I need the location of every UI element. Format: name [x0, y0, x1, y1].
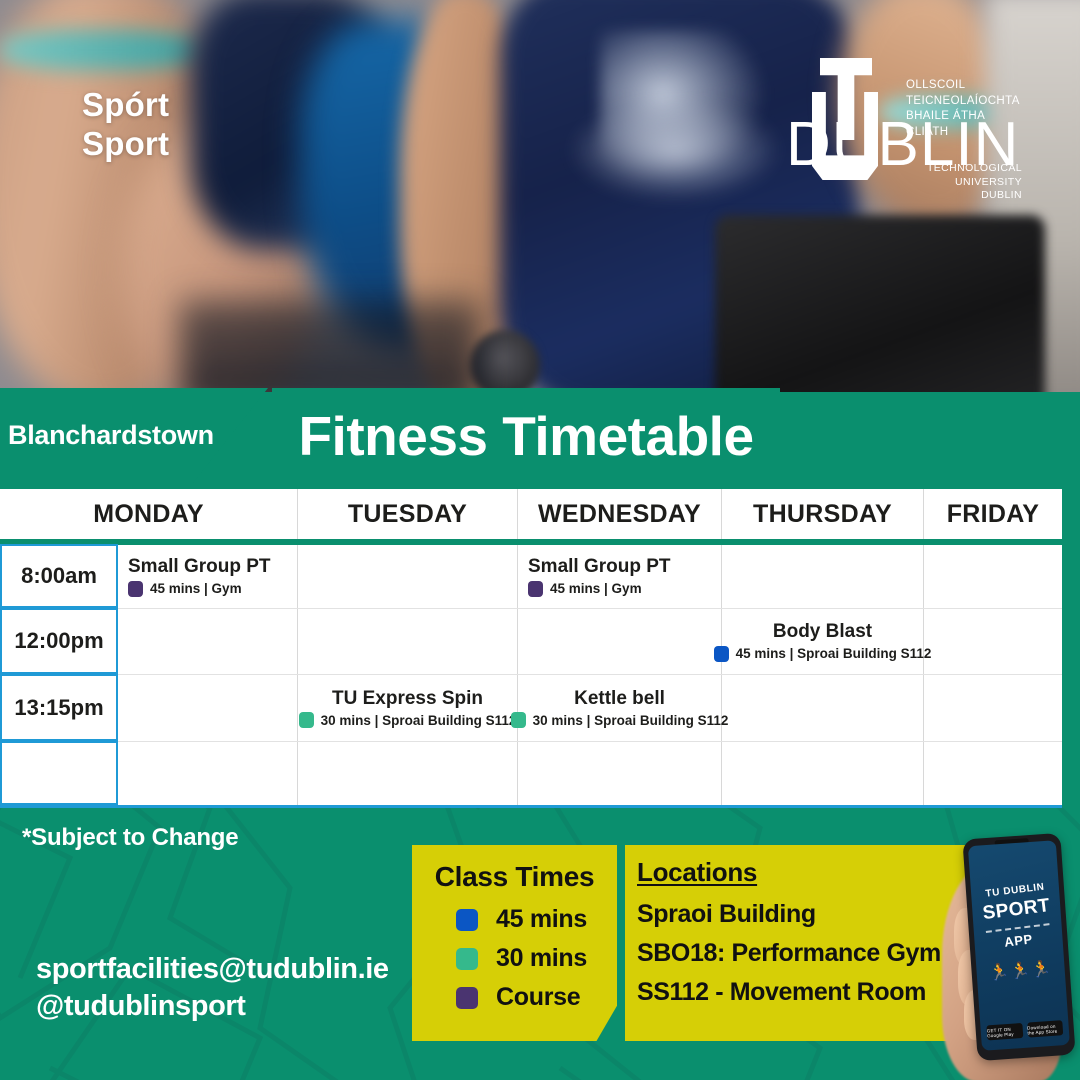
class-type-swatch — [299, 712, 314, 728]
class-slot-friday[interactable] — [924, 675, 1062, 741]
column-header-wednesday: WEDNESDAY — [518, 489, 722, 539]
class-name: TU Express Spin — [332, 688, 483, 710]
class-meta: 30 mins | Sproai Building S112 — [511, 712, 729, 728]
fitness-timetable-poster: Spórt Sport DUBLIN OLLSCOIL TEICNEOLAÍOC… — [0, 0, 1080, 1080]
logo-irish-name: OLLSCOIL TEICNEOLAÍOCHTA BHAILE ÁTHA CLI… — [906, 78, 1024, 140]
class-slot-monday[interactable] — [118, 609, 298, 674]
class-duration-location: 45 mins | Gym — [150, 581, 242, 596]
app-store-badge[interactable]: Download on the App Store — [1027, 1020, 1063, 1037]
contact-social-handle[interactable]: @tudublinsport — [36, 988, 389, 1025]
column-header-tuesday: TUESDAY — [298, 489, 518, 539]
class-name: Body Blast — [773, 621, 872, 643]
class-type-swatch — [528, 581, 543, 597]
page-title: Fitness Timetable — [298, 404, 753, 468]
app-promo-phone: TU DUBLIN SPORT APP 🏃🏃🏃 GET IT ON Google… — [948, 822, 1080, 1080]
class-slot-monday[interactable] — [118, 742, 298, 805]
store-badges: GET IT ON Google Play Download on the Ap… — [986, 1020, 1063, 1040]
class-times-panel: Class Times 45 mins 30 mins Course — [412, 845, 617, 1041]
timetable: MONDAY TUESDAY WEDNESDAY THURSDAY FRIDAY… — [0, 486, 1062, 810]
class-slot-tuesday[interactable] — [298, 742, 518, 805]
campus-banner: Blanchardstown — [0, 388, 268, 483]
legend-label: 30 mins — [496, 944, 587, 973]
legend-item: 30 mins — [456, 944, 617, 973]
class-times-title: Class Times — [412, 861, 617, 893]
class-meta: 30 mins | Sproai Building S112 — [299, 712, 517, 728]
class-slot-friday[interactable] — [924, 609, 1062, 674]
legend-swatch-course — [456, 987, 478, 1009]
class-name: Kettle bell — [574, 688, 665, 710]
hero-photo-banner: Spórt Sport DUBLIN OLLSCOIL TEICNEOLAÍOC… — [0, 0, 1080, 392]
disclaimer-text: *Subject to Change — [22, 824, 238, 852]
class-type-swatch — [714, 646, 729, 662]
class-slot-tuesday[interactable] — [298, 609, 518, 674]
sport-english-label: Sport — [82, 125, 169, 164]
class-slot-wednesday[interactable]: Kettle bell 30 mins | Sproai Building S1… — [518, 675, 722, 741]
class-slot-monday[interactable]: Small Group PT 45 mins | Gym — [118, 545, 298, 608]
logo-eng-line2: UNIVERSITY DUBLIN — [912, 176, 1022, 203]
logo-eng-line1: TECHNOLOGICAL — [912, 162, 1022, 176]
class-meta: 45 mins | Sproai Building S112 — [714, 646, 932, 662]
sport-irish-label: Spórt — [82, 86, 169, 125]
legend-label: 45 mins — [496, 905, 587, 934]
contact-email[interactable]: sportfacilities@tudublin.ie — [36, 951, 389, 988]
legend-item: Course — [456, 983, 617, 1012]
class-slot-thursday[interactable] — [722, 545, 924, 608]
legend-swatch-45min — [456, 909, 478, 931]
class-slot-thursday[interactable] — [722, 675, 924, 741]
tu-dublin-logo: DUBLIN OLLSCOIL TEICNEOLAÍOCHTA BHAILE Á… — [786, 58, 1022, 188]
class-slot-thursday[interactable]: Body Blast 45 mins | Sproai Building S11… — [722, 609, 924, 674]
class-times-legend: 45 mins 30 mins Course — [412, 905, 617, 1012]
table-row: 12:00pm Body Blast 45 mins | Sproai Buil… — [0, 609, 1062, 675]
class-name: Small Group PT — [528, 556, 671, 578]
class-slot-friday[interactable] — [924, 742, 1062, 805]
time-label: 12:00pm — [0, 608, 118, 674]
class-duration-location: 45 mins | Gym — [550, 581, 642, 596]
table-row — [0, 742, 1062, 805]
class-name: Small Group PT — [128, 556, 271, 578]
google-play-badge[interactable]: GET IT ON Google Play — [986, 1023, 1022, 1040]
class-slot-wednesday[interactable]: Small Group PT 45 mins | Gym — [518, 545, 722, 608]
table-row: 13:15pm TU Express Spin 30 mins | Sproai… — [0, 675, 1062, 742]
column-header-monday: MONDAY — [0, 489, 298, 539]
logo-irish-line2: BHAILE ÁTHA CLIATH — [906, 109, 1024, 140]
class-meta: 45 mins | Gym — [128, 581, 242, 597]
campus-label: Blanchardstown — [8, 420, 214, 451]
column-header-thursday: THURSDAY — [722, 489, 924, 539]
logo-english-name: TECHNOLOGICAL UNIVERSITY DUBLIN — [912, 162, 1022, 203]
phone-screen: TU DUBLIN SPORT APP 🏃🏃🏃 GET IT ON Google… — [968, 840, 1070, 1051]
legend-swatch-30min — [456, 948, 478, 970]
time-label — [0, 741, 118, 805]
class-duration-location: 45 mins | Sproai Building S112 — [736, 646, 932, 661]
table-row: 8:00am Small Group PT 45 mins | Gym Smal… — [0, 545, 1062, 609]
time-label: 8:00am — [0, 544, 118, 608]
class-slot-tuesday[interactable] — [298, 545, 518, 608]
class-duration-location: 30 mins | Sproai Building S112 — [533, 713, 729, 728]
class-slot-friday[interactable] — [924, 545, 1062, 608]
timetable-header-row: MONDAY TUESDAY WEDNESDAY THURSDAY FRIDAY — [0, 486, 1062, 545]
poster-title-banner: Fitness Timetable — [272, 388, 780, 483]
title-bar: Blanchardstown Fitness Timetable — [0, 388, 1080, 486]
class-slot-thursday[interactable] — [722, 742, 924, 805]
logo-irish-line1: OLLSCOIL TEICNEOLAÍOCHTA — [906, 78, 1024, 109]
time-label: 13:15pm — [0, 674, 118, 741]
class-type-swatch — [511, 712, 526, 728]
class-slot-wednesday[interactable] — [518, 742, 722, 805]
class-duration-location: 30 mins | Sproai Building S112 — [321, 713, 517, 728]
contact-info: sportfacilities@tudublin.ie @tudublinspo… — [36, 951, 389, 1025]
phone-device: TU DUBLIN SPORT APP 🏃🏃🏃 GET IT ON Google… — [962, 833, 1075, 1061]
column-header-friday: FRIDAY — [924, 489, 1062, 539]
timetable-body: 8:00am Small Group PT 45 mins | Gym Smal… — [0, 545, 1062, 810]
class-slot-tuesday[interactable]: TU Express Spin 30 mins | Sproai Buildin… — [298, 675, 518, 741]
legend-label: Course — [496, 983, 580, 1012]
class-meta: 45 mins | Gym — [528, 581, 642, 597]
legend-item: 45 mins — [456, 905, 617, 934]
sport-wordmark: Spórt Sport — [82, 86, 169, 164]
class-slot-monday[interactable] — [118, 675, 298, 741]
runner-icons: 🏃🏃🏃 — [976, 958, 1065, 984]
class-slot-wednesday[interactable] — [518, 609, 722, 674]
class-type-swatch — [128, 581, 143, 597]
